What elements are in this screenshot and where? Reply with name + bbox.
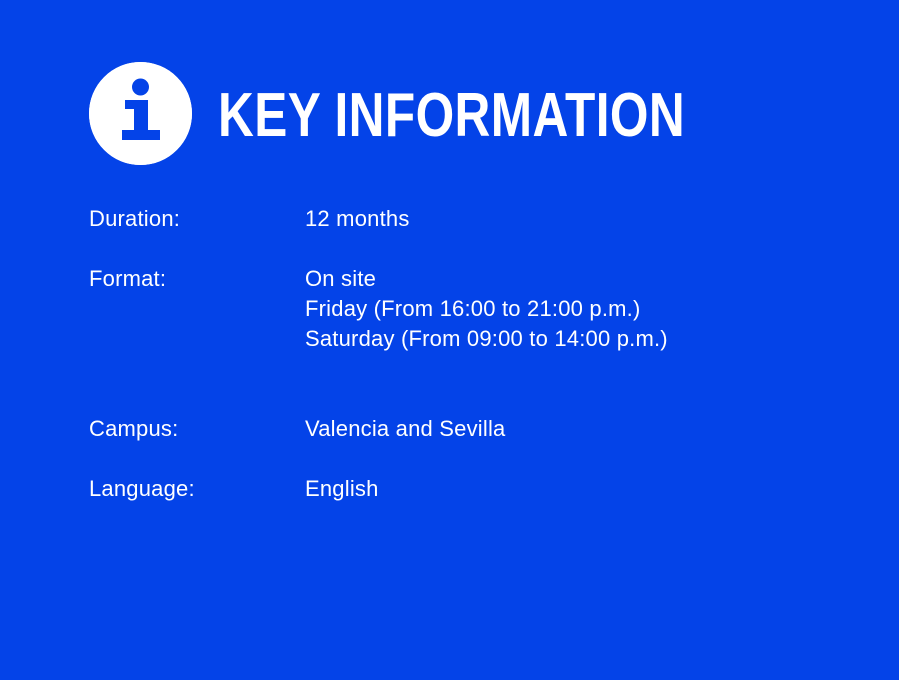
info-row-duration: Duration: 12 months (89, 204, 849, 234)
key-information-panel: KEY INFORMATION Duration: 12 months Form… (0, 0, 899, 680)
info-label-language: Language: (89, 474, 305, 504)
info-value-language: English (305, 474, 379, 504)
info-row-language: Language: English (89, 474, 849, 504)
info-label-duration: Duration: (89, 204, 305, 234)
page-title: KEY INFORMATION (218, 81, 685, 147)
info-label-format: Format: (89, 264, 305, 294)
info-value-line: 12 months (305, 204, 410, 234)
info-icon (89, 62, 192, 165)
info-value-format: On site Friday (From 16:00 to 21:00 p.m.… (305, 264, 668, 354)
info-value-campus: Valencia and Sevilla (305, 414, 506, 444)
info-row-format: Format: On site Friday (From 16:00 to 21… (89, 264, 849, 354)
info-value-duration: 12 months (305, 204, 410, 234)
info-value-line-friday: Friday (From 16:00 to 21:00 p.m.) (305, 294, 668, 324)
info-value-line-saturday: Saturday (From 09:00 to 14:00 p.m.) (305, 324, 668, 354)
info-label-campus: Campus: (89, 414, 305, 444)
info-value-line: English (305, 474, 379, 504)
header: KEY INFORMATION (89, 62, 802, 165)
info-value-line: Valencia and Sevilla (305, 414, 506, 444)
info-value-line: On site (305, 264, 668, 294)
info-row-campus: Campus: Valencia and Sevilla (89, 414, 849, 444)
